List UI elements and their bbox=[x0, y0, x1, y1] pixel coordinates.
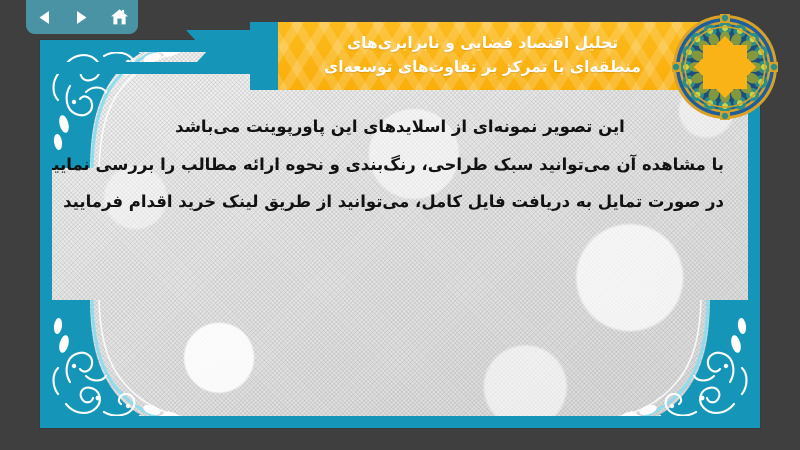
slide-body-text: این تصویر نمونه‌ای از اسلایدهای این پاور… bbox=[76, 108, 724, 221]
slide-title-line-1: تحلیل اقتصاد فضایی و نابرابری‌های bbox=[347, 32, 618, 56]
banner-accent-block bbox=[250, 22, 278, 90]
triangle-left-icon bbox=[36, 9, 53, 26]
slide-body-line-1: این تصویر نمونه‌ای از اسلایدهای این پاور… bbox=[76, 108, 724, 146]
arabesque-corner-icon-bottom-right bbox=[610, 300, 748, 416]
slide-title-banner: تحلیل اقتصاد فضایی و نابرابری‌های منطقه‌… bbox=[278, 22, 723, 90]
slide-content-frame: این تصویر نمونه‌ای از اسلایدهای این پاور… bbox=[40, 40, 760, 428]
next-slide-button[interactable] bbox=[68, 4, 96, 30]
persian-medallion-ornament bbox=[672, 14, 778, 120]
home-icon bbox=[110, 8, 129, 26]
previous-slide-button[interactable] bbox=[31, 4, 59, 30]
arabesque-corner-icon-bottom-left bbox=[52, 300, 190, 416]
home-button[interactable] bbox=[105, 4, 133, 30]
slide-navigation-toolbar bbox=[26, 0, 138, 34]
slide-content-surface: این تصویر نمونه‌ای از اسلایدهای این پاور… bbox=[52, 52, 748, 416]
banner-connector-rail bbox=[40, 62, 200, 74]
slide-body-line-3: در صورت تمایل به دریافت فایل کامل، می‌تو… bbox=[76, 183, 724, 221]
slide-title-line-2: منطقه‌ای با تمرکز بر تفاوت‌های توسعه‌ای bbox=[324, 56, 641, 80]
slide-body-line-2: با مشاهده آن می‌توانید سبک طراحی، رنگ‌بن… bbox=[76, 146, 724, 184]
triangle-right-icon bbox=[73, 9, 90, 26]
slide-viewer: تحلیل اقتصاد فضایی و نابرابری‌های منطقه‌… bbox=[0, 0, 800, 450]
